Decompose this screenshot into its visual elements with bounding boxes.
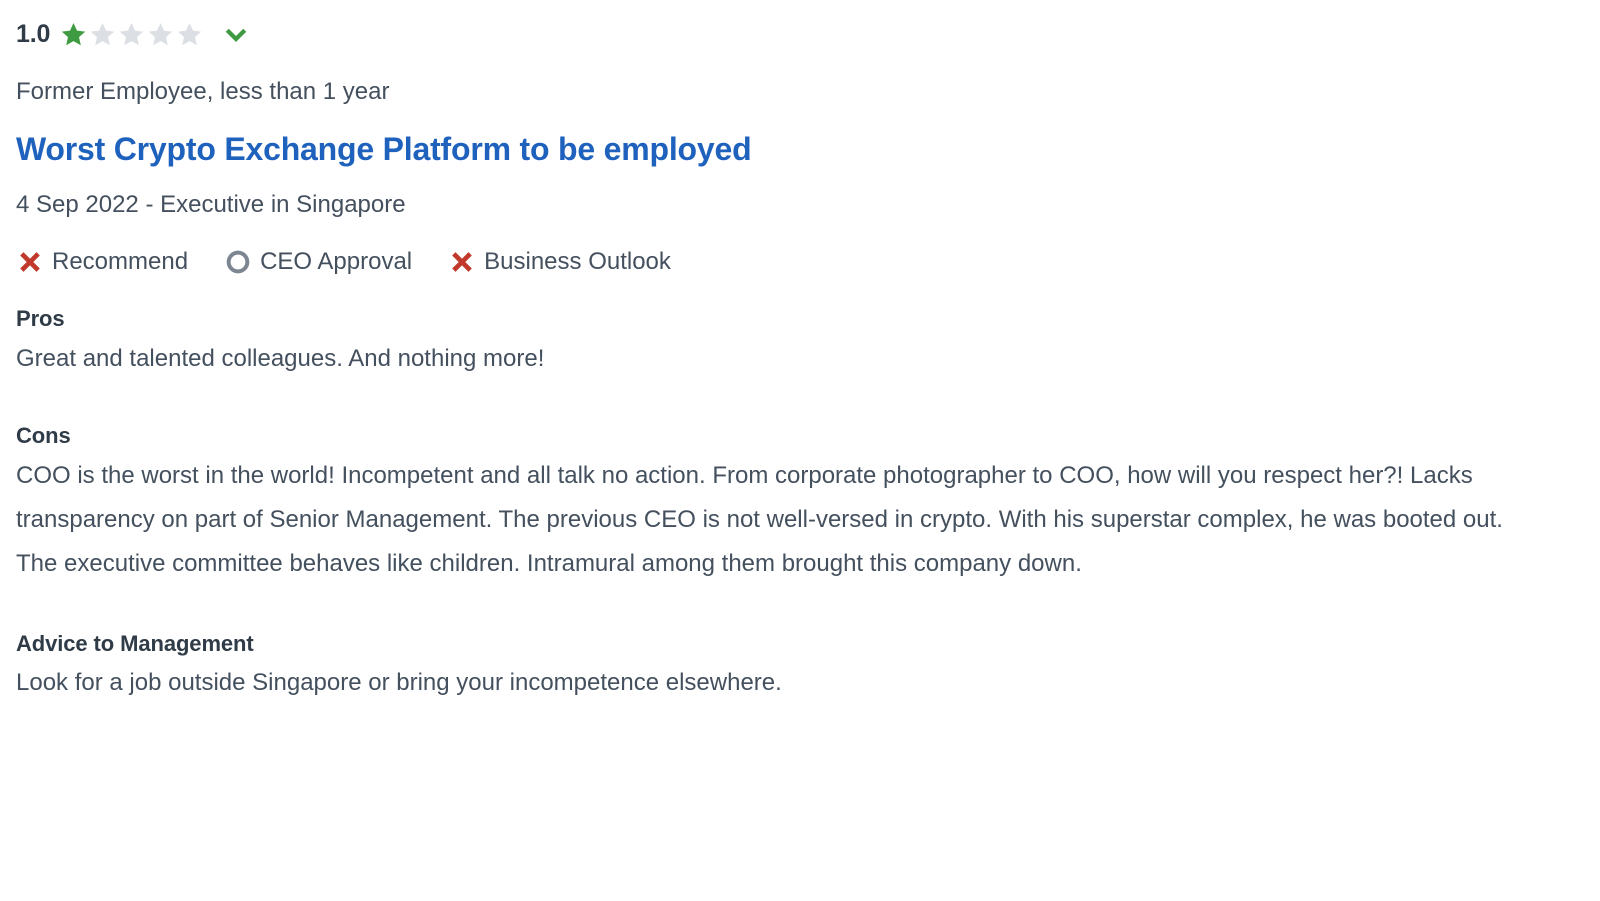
section-label: Pros: [16, 306, 1584, 332]
review-badges: Recommend CEO Approval Business Outlook: [16, 248, 1584, 277]
star-icon-empty: [147, 21, 174, 48]
star-icon-empty: [89, 21, 116, 48]
star-rating: [60, 21, 203, 48]
star-icon-filled: [60, 21, 87, 48]
circle-outline-icon: [224, 248, 252, 276]
review-title-link[interactable]: Worst Crypto Exchange Platform to be emp…: [16, 129, 751, 169]
review-section-pros: Pros Great and talented colleagues. And …: [16, 306, 1584, 381]
section-body: Great and talented colleagues. And nothi…: [16, 337, 1546, 381]
section-label: Advice to Management: [16, 631, 1584, 657]
section-body: Look for a job outside Singapore or brin…: [16, 661, 1546, 705]
rating-row: 1.0: [16, 14, 1584, 54]
rating-value: 1.0: [16, 22, 50, 47]
employment-status: Former Employee, less than 1 year: [16, 78, 1584, 107]
review-section-cons: Cons COO is the worst in the world! Inco…: [16, 423, 1584, 587]
x-mark-icon: [16, 248, 44, 276]
section-body: COO is the worst in the world! Incompete…: [16, 454, 1546, 587]
badge-ceo-approval: CEO Approval: [224, 248, 412, 277]
employee-review-card: 1.0: [0, 0, 1600, 706]
chevron-down-icon[interactable]: [221, 19, 251, 49]
badge-label: Recommend: [52, 248, 188, 277]
badge-recommend: Recommend: [16, 248, 188, 277]
review-section-advice: Advice to Management Look for a job outs…: [16, 631, 1584, 706]
badge-label: CEO Approval: [260, 248, 412, 277]
star-icon-empty: [176, 21, 203, 48]
badge-business-outlook: Business Outlook: [448, 248, 671, 277]
star-icon-empty: [118, 21, 145, 48]
review-date-and-role: 4 Sep 2022 - Executive in Singapore: [16, 191, 1584, 220]
badge-label: Business Outlook: [484, 248, 671, 277]
x-mark-icon: [448, 248, 476, 276]
section-label: Cons: [16, 423, 1584, 449]
